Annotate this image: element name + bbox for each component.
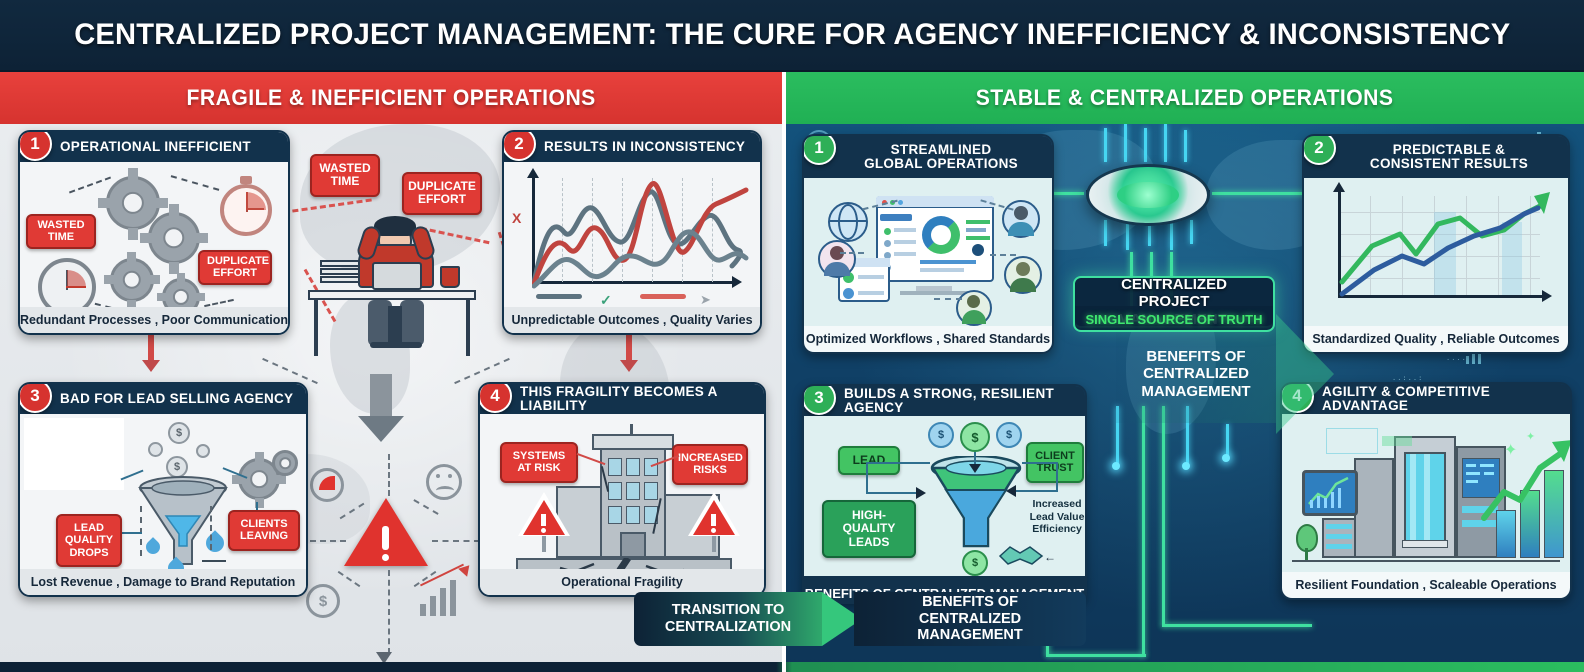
left-card-3-footer: Lost Revenue , Damage to Brand Reputatio…	[20, 569, 306, 595]
left-card-2-body: X ✓ ➤	[504, 162, 760, 307]
note-line-1: Increased	[1026, 498, 1085, 511]
left-card-1-body: WASTED TIME DUPLICATE EFFORT	[20, 162, 288, 307]
benefits-right-line3: MANAGEMENT	[1141, 383, 1250, 400]
right-card-1-body	[804, 178, 1052, 326]
benefits-bottom-line2: MANAGEMENT	[917, 627, 1023, 644]
tag-clients-leaving: CLIENTS LEAVING	[228, 510, 300, 551]
left-card-4-footer-text: Operational Fragility	[561, 575, 683, 589]
right-card-3[interactable]: 3 BUILDS A STRONG, RESILIENT AGENCY $ $ …	[802, 384, 1087, 604]
benefits-arrow-banner: BENEFITS OF CENTRALIZED MANAGEMENT	[1116, 314, 1334, 434]
left-card-2-footer: Unpredictable Outcomes , Quality Varies	[504, 307, 760, 333]
upward-trend-chart-icon	[1338, 178, 1558, 300]
benefits-right-line1: BENEFITS OF	[1146, 348, 1245, 365]
tag-wasted-time: WASTED TIME	[310, 154, 380, 197]
left-card-3-header: 3 BAD FOR LEAD SELLING AGENCY	[20, 384, 306, 414]
left-card-3-footer-text: Lost Revenue , Damage to Brand Reputatio…	[31, 575, 296, 589]
benefits-bottom-line1: BENEFITS OF CENTRALIZED	[870, 594, 1070, 627]
left-card-2-footer-text: Unpredictable Outcomes , Quality Varies	[511, 313, 752, 327]
right-card-2-body	[1304, 178, 1568, 326]
checkmark-icon: ✓	[600, 292, 612, 307]
coin-icon: $	[166, 456, 188, 478]
center-down-arrow-head	[358, 416, 404, 442]
left-card-2[interactable]: 2 RESULTS IN INCONSISTENCY	[502, 130, 762, 335]
right-card-3-title: BUILDS A STRONG, RESILIENT AGENCY	[844, 387, 1085, 415]
center-divider	[782, 72, 786, 672]
left-card-1-title: OPERATIONAL INEFFICIENT	[60, 140, 251, 154]
right-card-3-body: $ $ $ $ LEAD CLIENT TRUST HIGH-QUALITY L…	[804, 416, 1085, 576]
transition-line2: CENTRALIZATION	[665, 619, 791, 636]
sparkle-icon: ✦	[1504, 440, 1517, 460]
right-card-1-footer: Optimized Workflows , Shared Standards	[804, 326, 1052, 352]
left-card-1-footer-text: Redundant Processes , Poor Communication	[20, 313, 288, 327]
right-card-1-badge: 1	[802, 134, 836, 165]
gear-icon	[272, 450, 298, 476]
right-section-heading: STABLE & CENTRALIZED OPERATIONS	[976, 85, 1394, 111]
left-card-2-badge: 2	[502, 130, 536, 161]
left-card-2-title: RESULTS IN INCONSISTENCY	[544, 140, 745, 154]
left-card-3-title: BAD FOR LEAD SELLING AGENCY	[60, 392, 293, 406]
crack-icon	[516, 558, 732, 569]
infographic-root: CENTRALIZED PROJECT MANAGEMENT: THE CURE…	[0, 0, 1584, 672]
right-card-2-title: PREDICTABLE & CONSISTENT RESULTS	[1344, 143, 1568, 171]
sparkle-icon: ✦	[1526, 430, 1535, 443]
left-card-1-header: 1 OPERATIONAL INEFFICIENT	[20, 132, 288, 162]
central-hub-box-sub: SINGLE SOURCE OF TRUTH	[1073, 306, 1275, 332]
left-card-3-badge: 3	[18, 382, 52, 413]
increased-lead-value-note: Increased Lead Value Efficiency	[1026, 498, 1085, 536]
left-card-3[interactable]: 3 BAD FOR LEAD SELLING AGENCY $ $	[18, 382, 308, 597]
right-card-1-footer-text: Optimized Workflows , Shared Standards	[806, 332, 1050, 346]
stressed-worker-scene: WASTED TIME DUPLICATE EFFORT	[290, 144, 500, 364]
pointer-icon: ➤	[700, 292, 711, 307]
tag-duplicate-effort: DUPLICATE EFFORT	[402, 172, 482, 215]
handshake-icon	[998, 542, 1044, 568]
coin-icon: $	[168, 422, 190, 444]
right-card-2-title-line2: CONSISTENT RESULTS	[1344, 157, 1554, 171]
right-card-1-header: 1 STREAMLINED GLOBAL OPERATIONS	[804, 136, 1052, 178]
note-line-3: Efficiency	[1026, 523, 1085, 536]
central-hub-disc-icon	[1086, 164, 1210, 226]
coffee-mug-icon	[440, 266, 460, 288]
left-card-2-header: 2 RESULTS IN INCONSISTENCY	[504, 132, 760, 162]
center-down-arrow-shaft	[370, 374, 392, 420]
right-card-4-body: ✦ ✦	[1282, 414, 1570, 572]
desk	[308, 290, 476, 300]
left-card-1-badge: 1	[18, 130, 52, 161]
upward-arrow-icon	[1480, 434, 1570, 524]
right-card-4-footer: Resilient Foundation , Scaleable Operati…	[1282, 572, 1570, 598]
warning-triangle-icon	[514, 492, 574, 548]
funnel-icon	[138, 476, 228, 569]
left-card-4[interactable]: 4 THIS FRAGILITY BECOMES A LIABILITY	[478, 382, 766, 597]
coin-icon: $	[928, 422, 954, 448]
coin-icon: $	[960, 422, 990, 452]
right-card-2-badge: 2	[1302, 134, 1336, 165]
right-card-2-title-line1: PREDICTABLE &	[1344, 143, 1554, 157]
tag-systems-at-risk: SYSTEMS AT RISK	[500, 442, 578, 483]
right-card-1-title-line1: STREAMLINED	[844, 143, 1038, 157]
tag-lead-quality-drops: LEAD QUALITY DROPS	[56, 514, 122, 567]
left-section-header: FRAGILE & INEFFICIENT OPERATIONS	[0, 72, 782, 124]
transition-line1: TRANSITION TO	[672, 602, 785, 619]
upward-trend-chart-icon	[1306, 474, 1354, 510]
hub-line3: SINGLE SOURCE OF TRUTH	[1086, 312, 1263, 327]
books-icon	[320, 260, 360, 267]
coin-icon	[196, 444, 210, 458]
gear-icon	[162, 278, 200, 307]
donut-chart-icon	[922, 216, 960, 254]
tag-duplicate-effort: DUPLICATE EFFORT	[198, 250, 272, 285]
right-canvas: DATA 0100 0110 503320 11 .... ..:..: 1	[786, 124, 1584, 672]
right-section-header: STABLE & CENTRALIZED OPERATIONS	[786, 72, 1584, 124]
left-section: FRAGILE & INEFFICIENT OPERATIONS WASTED …	[0, 72, 782, 672]
right-card-2-footer: Standardized Quality , Reliable Outcomes	[1304, 326, 1568, 352]
transition-banner: TRANSITION TO CENTRALIZATION	[634, 592, 862, 646]
left-card-4-badge: 4	[478, 382, 512, 413]
left-section-heading: FRAGILE & INEFFICIENT OPERATIONS	[186, 85, 595, 111]
right-card-4-title: AGILITY & COMPETITIVE ADVANTAGE	[1322, 385, 1570, 413]
right-card-2-footer-text: Standardized Quality , Reliable Outcomes	[1312, 332, 1559, 346]
right-section: STABLE & CENTRALIZED OPERATIONS	[786, 72, 1584, 672]
left-card-1[interactable]: 1 OPERATIONAL INEFFICIENT	[18, 130, 290, 335]
bottom-accent-strip	[0, 662, 1584, 672]
left-card-3-body: $ $	[20, 414, 306, 569]
tag-increased-risks: INCREASED RISKS	[672, 444, 748, 485]
right-card-3-badge: 3	[802, 384, 836, 415]
title-bar: CENTRALIZED PROJECT MANAGEMENT: THE CURE…	[0, 0, 1584, 72]
left-card-4-body: SYSTEMS AT RISK INCREASED RISKS	[480, 414, 764, 569]
bar-chart-icon	[420, 604, 426, 616]
right-card-1-title: STREAMLINED GLOBAL OPERATIONS	[844, 143, 1052, 171]
left-card-4-header: 4 THIS FRAGILITY BECOMES A LIABILITY	[480, 384, 764, 414]
benefits-right-line2: CENTRALIZED	[1143, 365, 1249, 382]
right-card-3-header: 3 BUILDS A STRONG, RESILIENT AGENCY	[804, 386, 1085, 416]
left-card-4-title: THIS FRAGILITY BECOMES A LIABILITY	[520, 385, 764, 413]
line-chart-icon	[532, 170, 760, 292]
money-cycle-icon: $	[306, 584, 340, 618]
office-building-icon	[1354, 458, 1394, 558]
warning-triangle-icon	[684, 492, 744, 548]
warning-cluster: $	[300, 454, 480, 654]
tag-high-quality-leads: HIGH-QUALITY LEADS	[822, 500, 916, 558]
gear-icon	[110, 258, 154, 302]
right-card-2[interactable]: 2 PREDICTABLE & CONSISTENT RESULTS	[1302, 134, 1570, 354]
gear-icon	[148, 212, 200, 264]
coin-icon: $	[996, 422, 1022, 448]
page-title: CENTRALIZED PROJECT MANAGEMENT: THE CURE…	[74, 18, 1510, 52]
coin-icon	[148, 442, 163, 457]
tag-lead: LEAD	[838, 446, 900, 475]
left-card-1-footer: Redundant Processes , Poor Communication	[20, 307, 288, 333]
tag-wasted-time: WASTED TIME	[26, 214, 96, 249]
right-card-1-title-line2: GLOBAL OPERATIONS	[844, 157, 1038, 171]
right-card-2-header: 2 PREDICTABLE & CONSISTENT RESULTS	[1304, 136, 1568, 178]
benefits-bottom-banner: BENEFITS OF CENTRALIZED MANAGEMENT	[854, 592, 1086, 646]
left-canvas: WASTED TIME DUPLICATE EFFORT	[0, 124, 782, 672]
right-card-4-footer-text: Resilient Foundation , Scaleable Operati…	[1295, 578, 1556, 592]
right-card-1[interactable]: 1 STREAMLINED GLOBAL OPERATIONS	[802, 134, 1054, 354]
note-line-2: Lead Value	[1026, 511, 1085, 524]
x-mark-icon: X	[512, 210, 521, 226]
laptop-icon	[372, 262, 422, 290]
